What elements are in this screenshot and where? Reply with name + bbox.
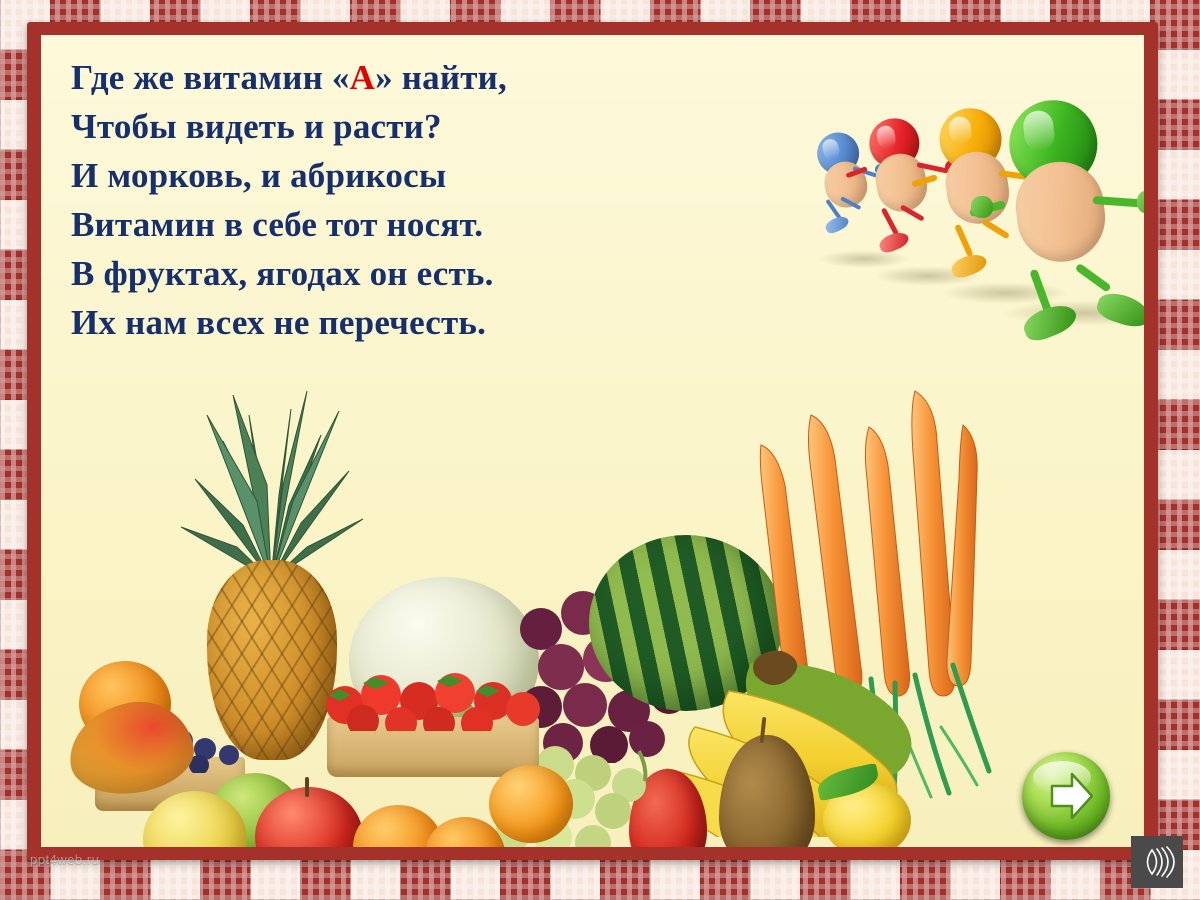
next-slide-button[interactable] xyxy=(1022,752,1110,840)
pineapple-leaves-icon xyxy=(171,375,371,585)
poem-line-1: Где же витамин «А» найти, xyxy=(71,53,711,102)
green-pill-character xyxy=(1005,96,1109,262)
poem-line-3: И морковь, и абрикосы xyxy=(71,151,711,200)
poem-line-5: В фруктах, ягодах он есть. xyxy=(71,249,711,298)
slide-frame: Где же витамин «А» найти, Чтобы видеть и… xyxy=(27,22,1158,860)
poem-line-4: Витамин в себе тот носят. xyxy=(71,200,711,249)
orange-icon xyxy=(489,765,573,843)
slide-root: Где же витамин «А» найти, Чтобы видеть и… xyxy=(0,0,1200,900)
slide-canvas: Где же витамин «А» найти, Чтобы видеть и… xyxy=(41,35,1144,847)
arrow-right-icon xyxy=(1022,752,1110,840)
strawberries-icon xyxy=(323,665,543,731)
vitamin-letter-a: А xyxy=(350,58,375,97)
sound-button[interactable] xyxy=(1131,836,1183,888)
apple-stem-icon xyxy=(305,777,309,797)
fruit-still-life-photo xyxy=(59,365,1059,845)
poem-text: Где же витамин «А» найти, Чтобы видеть и… xyxy=(71,53,711,347)
pill-shadow xyxy=(819,250,909,268)
poem-line-2: Чтобы видеть и расти? xyxy=(71,102,711,151)
pill-characters-illustration xyxy=(801,100,1144,330)
sound-icon xyxy=(1131,836,1183,888)
poem-line-6: Их нам всех не перечесть. xyxy=(71,298,711,347)
watermark-text: ppt4web.ru xyxy=(30,852,99,867)
